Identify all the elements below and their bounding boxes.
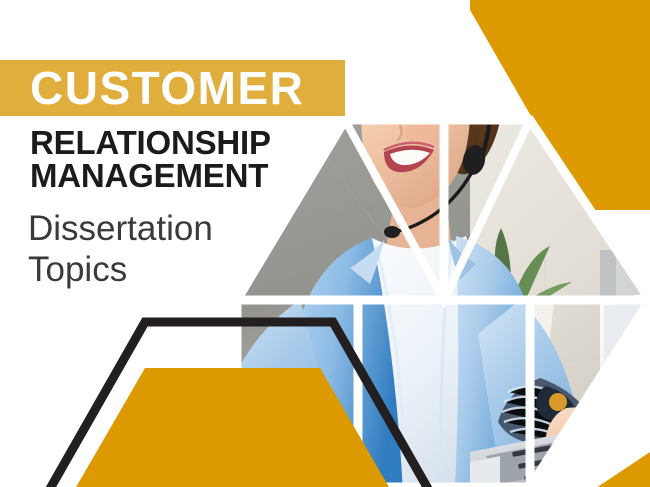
subhead-line-2: Topics — [28, 249, 213, 290]
poster-kicker: CUSTOMER — [30, 62, 304, 114]
subhead-line-1: Dissertation — [28, 208, 213, 249]
poster-headline: RELATIONSHIP MANAGEMENT — [30, 126, 271, 192]
poster-subhead: Dissertation Topics — [28, 208, 213, 290]
headline-line-1: RELATIONSHIP — [30, 126, 271, 159]
poster-canvas: CUSTOMER RELATIONSHIP MANAGEMENT Dissert… — [0, 0, 650, 487]
headline-line-2: MANAGEMENT — [30, 159, 271, 192]
